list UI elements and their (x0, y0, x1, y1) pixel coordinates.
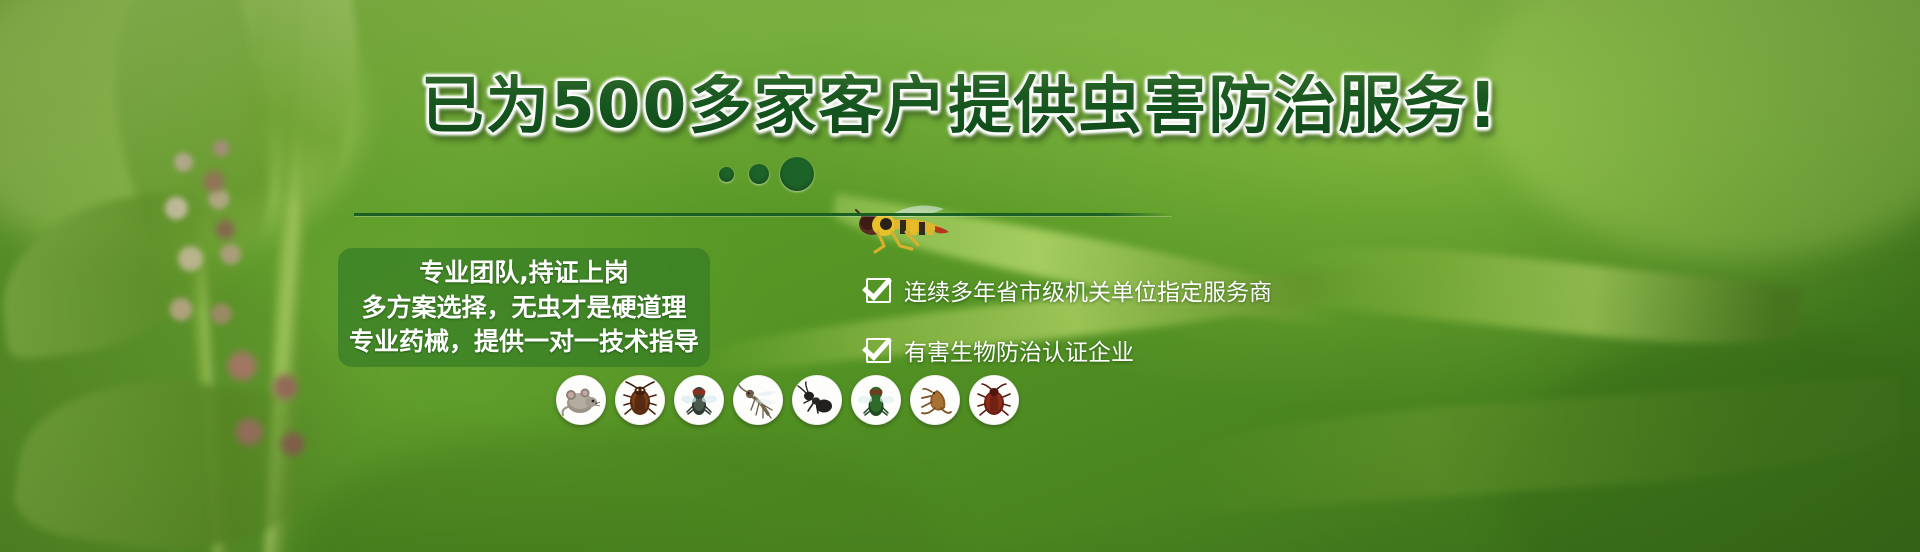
plant-leaf (1178, 375, 1903, 515)
decor-dot-small-a (719, 167, 734, 182)
plant-leaf (1278, 233, 1802, 357)
cockroach-icon[interactable] (615, 375, 665, 425)
credential-list: 连续多年省市级机关单位指定服务商 有害生物防治认证企业 (866, 273, 1272, 367)
panel-line-1: 专业团队,持证上岗 (419, 258, 629, 288)
credential-label: 连续多年省市级机关单位指定服务商 (904, 273, 1272, 307)
horizontal-rule-divider (354, 213, 1172, 216)
flea-icon[interactable] (910, 375, 960, 425)
fly-icon[interactable] (674, 375, 724, 425)
plant-leaf (10, 360, 331, 552)
plant-stem (178, 150, 232, 552)
plant-flower-cluster (206, 336, 326, 486)
credential-label: 有害生物防治认证企业 (904, 333, 1134, 367)
blowfly-icon[interactable] (851, 375, 901, 425)
plant-flower-cluster (148, 130, 266, 360)
feature-panel-text: 专业团队,持证上岗 多方案选择，无虫才是硬道理 专业药械，提供一对一技术指导 (338, 248, 710, 367)
bedbug-icon[interactable] (969, 375, 1019, 425)
page-title: 已为500多家客户提供虫害防治服务! (0, 74, 1920, 137)
checkbox-checked-icon (866, 338, 891, 363)
plant-flower-cluster (186, 160, 256, 280)
list-item: 连续多年省市级机关单位指定服务商 (866, 273, 1272, 307)
list-item: 有害生物防治认证企业 (866, 333, 1272, 367)
hoverfly-icon (848, 200, 956, 256)
mosquito-icon[interactable] (733, 375, 783, 425)
checkbox-checked-icon (866, 278, 891, 303)
promo-banner: 已为500多家客户提供虫害防治服务! 专业团队,持证上岗 多方案选择，无虫才是硬… (0, 0, 1920, 552)
headline-text: 已为500多家客户提供虫害防治服务! (421, 74, 1499, 137)
ant-icon[interactable] (792, 375, 842, 425)
plant-leaf (0, 189, 217, 360)
mouse-icon[interactable] (556, 375, 606, 425)
decor-dot-large (780, 157, 814, 191)
plant-leaf (73, 0, 327, 317)
background-blur-blob (300, 430, 940, 552)
background-blur-blob (1500, 330, 1920, 552)
panel-line-2: 多方案选择，无虫才是硬道理 (361, 293, 686, 323)
decor-dot-small-b (749, 164, 769, 184)
panel-line-3: 专业药械，提供一对一技术指导 (349, 327, 699, 357)
background-blur-blob (0, 250, 350, 552)
pest-icon-row (556, 375, 1019, 425)
